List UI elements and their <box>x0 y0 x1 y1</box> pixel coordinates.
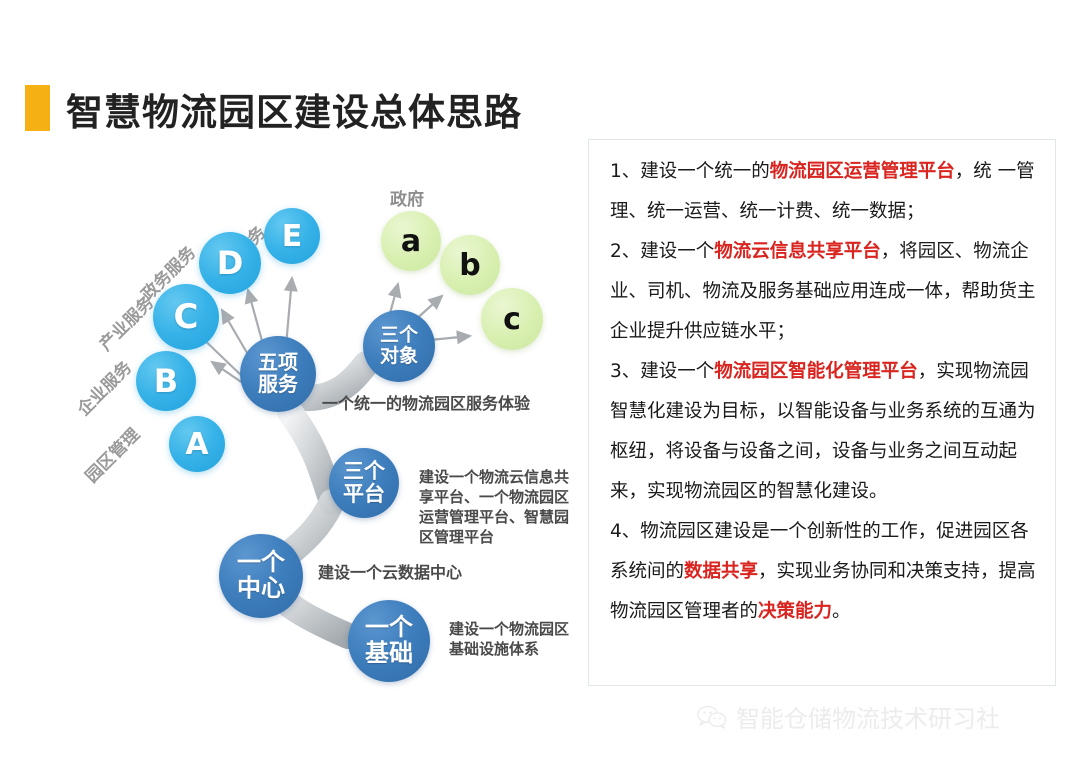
summary-text: 2、建设一个 <box>610 241 714 262</box>
summary-item-1: 1、建设一个统一的物流园区运营管理平台，统 一管理、统一运营、统一计费、统一数据… <box>610 152 1046 232</box>
summary-item-3: 3、建设一个物流园区智能化管理平台，实现物流园智慧化建设为目标，以智能设备与业务… <box>610 352 1046 512</box>
wechat-icon <box>697 705 727 729</box>
hub-one-foundation-label: 一个基础 <box>365 615 413 667</box>
hub-one-center[interactable]: 一个中心 <box>219 534 303 618</box>
slide-canvas: 智慧物流园区建设总体思路 1、建设一个统一的物流园区运营管理平台，统 一管理、统… <box>0 0 1080 764</box>
hub-five-services[interactable]: 五项服务 <box>240 336 316 412</box>
page-title: 智慧物流园区建设总体思路 <box>66 82 522 136</box>
service-node-e-letter: E <box>282 219 303 254</box>
service-node-a-letter: A <box>185 427 208 462</box>
hub-five-services-label: 五项服务 <box>258 352 298 395</box>
hub-three-platforms-label: 三个平台 <box>343 460 385 505</box>
summary-highlight: 物流园区智能化管理平台 <box>714 361 918 382</box>
hub-three-objects-label: 三个对象 <box>380 325 418 366</box>
object-label-government: 政府 <box>390 185 424 210</box>
summary-item-4: 4、物流园区建设是一个创新性的工作，促进园区各系统间的数据共享，实现业务协同和决… <box>610 512 1046 632</box>
summary-text: ，实现物流园智慧化建设为目标，以智能设备与业务系统的互通为枢纽，将设备与设备之间… <box>610 361 1036 502</box>
object-node-b[interactable]: b <box>440 235 500 295</box>
summary-item-2: 2、建设一个物流云信息共享平台，将园区、物流企业、司机、物流及服务基础应用连成一… <box>610 232 1046 352</box>
summary-highlight: 物流云信息共享平台 <box>714 241 881 262</box>
hub-one-foundation[interactable]: 一个基础 <box>348 600 430 682</box>
hub-three-platforms[interactable]: 三个平台 <box>329 448 399 518</box>
service-node-d[interactable]: D <box>199 232 261 294</box>
object-node-a-letter: a <box>401 224 421 259</box>
service-node-d-letter: D <box>217 244 244 282</box>
hub-one-center-label: 一个中心 <box>237 550 285 602</box>
object-node-a[interactable]: a <box>381 211 441 271</box>
summary-highlight: 物流园区运营管理平台 <box>770 161 955 182</box>
object-node-b-letter: b <box>459 248 480 283</box>
summary-text: 。 <box>832 601 851 622</box>
caption-one-center: 建设一个云数据中心 <box>318 562 462 583</box>
hub-three-objects[interactable]: 三个对象 <box>363 310 435 382</box>
watermark: 智能仓储物流技术研习社 <box>697 699 1000 734</box>
summary-panel-body: 1、建设一个统一的物流园区运营管理平台，统 一管理、统一运营、统一计费、统一数据… <box>610 152 1046 632</box>
title-bullet-square <box>25 85 50 131</box>
caption-one-foundation: 建设一个物流园区基础设施体系 <box>449 619 579 659</box>
service-node-c[interactable]: C <box>153 284 219 350</box>
watermark-text: 智能仓储物流技术研习社 <box>736 699 1000 734</box>
summary-text: 1、建设一个统一的 <box>610 161 770 182</box>
caption-five-services: 一个统一的物流园区服务体验 <box>322 393 530 414</box>
caption-three-platforms: 建设一个物流云信息共享平台、一个物流园区运营管理平台、智慧园区管理平台 <box>419 467 571 547</box>
service-node-b-letter: B <box>154 362 178 400</box>
service-node-c-letter: C <box>174 297 199 337</box>
service-node-b[interactable]: B <box>136 351 196 411</box>
service-node-a[interactable]: A <box>169 416 225 472</box>
concept-diagram: 园区管理 企业服务 产业服务 政务服务 生活服务 A B C D E 五项服务 <box>0 150 580 710</box>
summary-text: 3、建设一个 <box>610 361 714 382</box>
service-node-e[interactable]: E <box>264 208 320 264</box>
summary-highlight: 数据共享 <box>684 561 758 582</box>
summary-highlight: 决策能力 <box>758 601 832 622</box>
object-node-c-letter: c <box>503 302 521 337</box>
object-node-c[interactable]: c <box>481 288 543 350</box>
